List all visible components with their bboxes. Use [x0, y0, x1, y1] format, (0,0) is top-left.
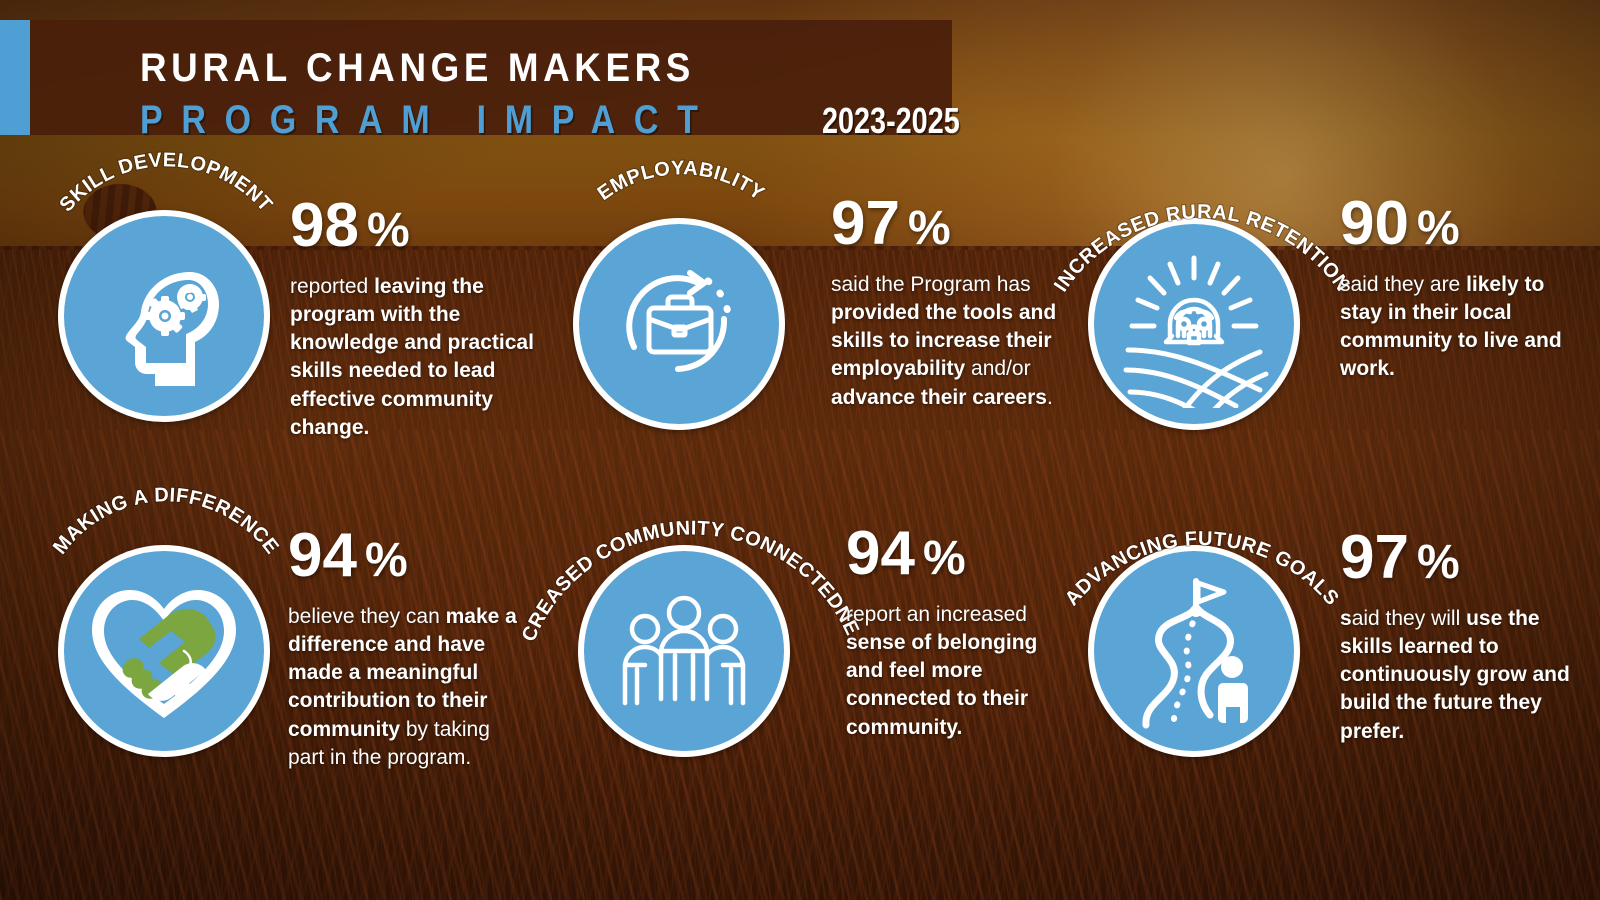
date-range: 2023-2025 [822, 100, 960, 142]
badge-making-a-difference: MAKING A DIFFERENCE [58, 545, 270, 757]
stat-percent: 98% [290, 195, 538, 257]
stat-description: said the Program has provided the tools … [831, 271, 1071, 412]
head-gears-icon [94, 246, 234, 386]
badge-employability: EMPLOYABILITY [573, 218, 785, 430]
header-accent-bar [0, 20, 30, 135]
stat-description: report an increased sense of belonging a… [846, 601, 1076, 742]
page-title: RURAL CHANGE MAKERS [140, 46, 695, 91]
stat-percent: 97% [831, 193, 1071, 255]
three-people-icon [609, 581, 759, 721]
badge-rural-retention: INCREASED RURAL RETENTION [1088, 218, 1300, 430]
stat-percent: 94% [846, 523, 1076, 585]
path-flag-person-icon [1114, 571, 1274, 731]
badge-advancing-future-goals: ADVANCING FUTURE GOALS [1088, 545, 1300, 757]
badge-skill-development: SKILL DEVELOPMENT [58, 210, 270, 422]
stat-description: believe they can make a difference and h… [288, 603, 528, 772]
heart-handshake-icon [84, 576, 244, 726]
briefcase-arrow-icon [604, 249, 754, 399]
stat-text-making-a-difference: 94% believe they can make a difference a… [288, 525, 528, 772]
stat-description: reported leaving the program with the kn… [290, 273, 538, 442]
stat-percent: 97% [1340, 527, 1590, 589]
sunrise-fields-icon [1110, 240, 1278, 408]
page-subtitle: PROGRAM IMPACT [140, 98, 717, 143]
stat-text-skill-development: 98% reported leaving the program with th… [290, 195, 538, 442]
stat-description: said they will use the skills learned to… [1340, 605, 1590, 746]
stat-text-employability: 97% said the Program has provided the to… [831, 193, 1071, 412]
stat-percent: 94% [288, 525, 528, 587]
stat-text-advancing-future-goals: 97% said they will use the skills learne… [1340, 527, 1590, 746]
badge-community-connectedness: INCREASED COMMUNITY CONNECTEDNESS [578, 545, 790, 757]
stat-percent: 90% [1340, 193, 1590, 255]
stat-description: said they are likely to stay in their lo… [1340, 271, 1590, 384]
stat-text-rural-retention: 90% said they are likely to stay in thei… [1340, 193, 1590, 384]
stat-text-community-connectedness: 94% report an increased sense of belongi… [846, 523, 1076, 742]
header-banner: RURAL CHANGE MAKERS PROGRAM IMPACT 2023-… [0, 20, 952, 135]
header-subtitle-row: PROGRAM IMPACT 2023-2025 [140, 98, 995, 143]
